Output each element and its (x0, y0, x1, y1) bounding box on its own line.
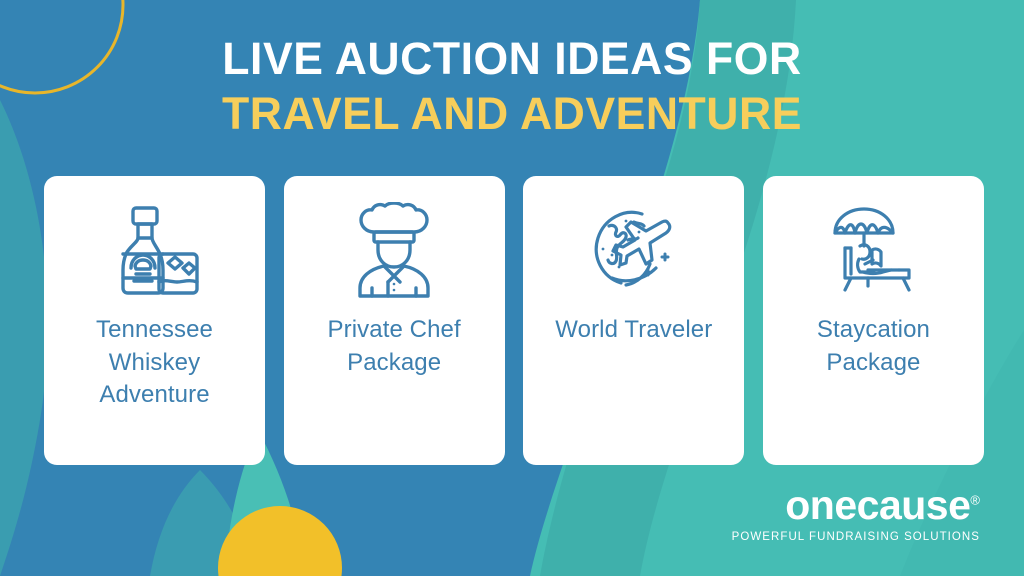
auction-idea-card[interactable]: Private Chef Package (284, 176, 505, 465)
registered-trademark-icon: ® (970, 492, 980, 507)
logo-wordmark-text: onecause (785, 482, 970, 528)
chef-icon (342, 202, 446, 306)
onecause-logo: onecause® POWERFUL FUNDRAISING SOLUTIONS (732, 485, 980, 544)
auction-idea-card[interactable]: World Traveler (523, 176, 744, 465)
auction-idea-card[interactable]: Staycation Package (763, 176, 984, 465)
auction-idea-card[interactable]: Tennessee Whiskey Adventure (44, 176, 265, 465)
card-label: World Traveler (545, 314, 722, 347)
logo-wordmark: onecause® (785, 485, 980, 526)
title-line-secondary: TRAVEL AND ADVENTURE (5, 91, 1019, 136)
card-label: Private Chef Package (284, 314, 505, 379)
logo-tagline: POWERFUL FUNDRAISING SOLUTIONS (732, 532, 980, 544)
card-label: Tennessee Whiskey Adventure (44, 314, 265, 412)
title-line-primary: LIVE AUCTION IDEAS FOR (5, 36, 1019, 81)
page-title: LIVE AUCTION IDEAS FOR TRAVEL AND ADVENT… (0, 36, 1024, 136)
card-label: Staycation Package (763, 314, 984, 379)
infographic-canvas: LIVE AUCTION IDEAS FOR TRAVEL AND ADVENT… (0, 0, 1024, 576)
whiskey-bottle-glass-icon (103, 202, 207, 306)
globe-airplane-icon (582, 202, 686, 306)
auction-idea-card-list: Tennessee Whiskey Adventure (44, 176, 984, 465)
beach-lounger-umbrella-icon (821, 202, 925, 306)
